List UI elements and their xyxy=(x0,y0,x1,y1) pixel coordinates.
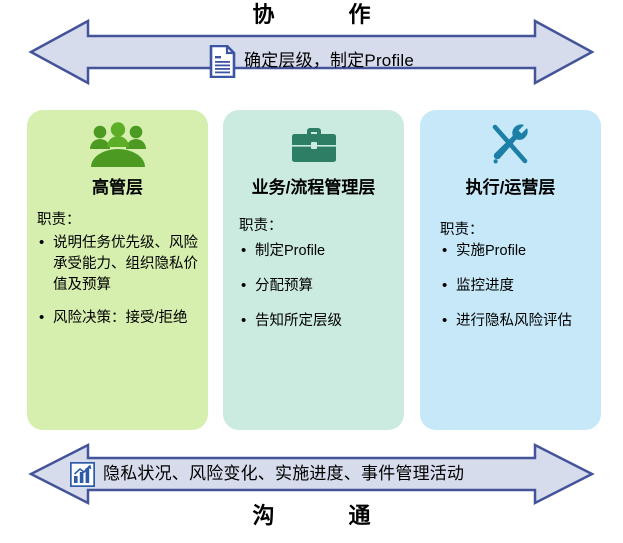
briefcase-icon xyxy=(290,124,338,166)
communication-arrow-banner: 隐私状况、风险变化、实施进度、事件管理活动 xyxy=(0,441,623,507)
communication-headline: 沟通 xyxy=(0,505,623,527)
list-item: 风险决策：接受/拒绝 xyxy=(35,308,202,329)
list-item: 告知所定层级 xyxy=(237,311,396,332)
card-title: 业务/流程管理层 xyxy=(223,178,404,198)
bar-chart-icon xyxy=(70,462,95,487)
card-icon-wrap xyxy=(27,110,208,172)
responsibility-list: 制定Profile 分配预算 告知所定层级 xyxy=(237,241,396,332)
card-body: 职责： 实施Profile 监控进度 进行隐私风险评估 xyxy=(420,220,601,332)
list-item: 制定Profile xyxy=(237,241,396,262)
people-group-icon xyxy=(88,122,148,168)
responsibility-label: 职责： xyxy=(37,210,202,231)
collaboration-banner-text: 确定层级，制定Profile xyxy=(244,50,414,71)
card-title: 高管层 xyxy=(27,178,208,198)
card-title: 执行/运营层 xyxy=(420,178,601,198)
list-item: 分配预算 xyxy=(237,276,396,297)
card-executive-level[interactable]: 高管层 职责： 说明任务优先级、风险承受能力、组织隐私价值及预算 风险决策：接受… xyxy=(27,110,208,430)
communication-banner-content: 隐私状况、风险变化、实施进度、事件管理活动 xyxy=(70,455,553,493)
list-item: 实施Profile xyxy=(438,241,593,262)
responsibility-list: 说明任务优先级、风险承受能力、组织隐私价值及预算 风险决策：接受/拒绝 xyxy=(35,233,202,329)
document-icon xyxy=(209,45,236,78)
card-icon-wrap xyxy=(420,110,601,172)
list-item: 说明任务优先级、风险承受能力、组织隐私价值及预算 xyxy=(35,233,202,296)
collaboration-arrow-banner: 确定层级，制定Profile xyxy=(0,12,623,92)
list-item: 进行隐私风险评估 xyxy=(438,311,593,332)
collaboration-banner-content: 确定层级，制定Profile xyxy=(88,42,535,80)
card-business-process-level[interactable]: 业务/流程管理层 职责： 制定Profile 分配预算 告知所定层级 xyxy=(223,110,404,430)
card-body: 职责： 说明任务优先级、风险承受能力、组织隐私价值及预算 风险决策：接受/拒绝 xyxy=(27,210,208,329)
responsibility-label: 职责： xyxy=(440,220,593,241)
card-execution-operations-level[interactable]: 执行/运营层 职责： 实施Profile 监控进度 进行隐私风险评估 xyxy=(420,110,601,430)
responsibility-label: 职责： xyxy=(239,216,396,237)
card-icon-wrap xyxy=(223,110,404,172)
responsibility-list: 实施Profile 监控进度 进行隐私风险评估 xyxy=(438,241,593,332)
communication-banner-text: 隐私状况、风险变化、实施进度、事件管理活动 xyxy=(103,463,464,484)
card-body: 职责： 制定Profile 分配预算 告知所定层级 xyxy=(223,216,404,332)
list-item: 监控进度 xyxy=(438,276,593,297)
tools-icon xyxy=(486,121,536,169)
